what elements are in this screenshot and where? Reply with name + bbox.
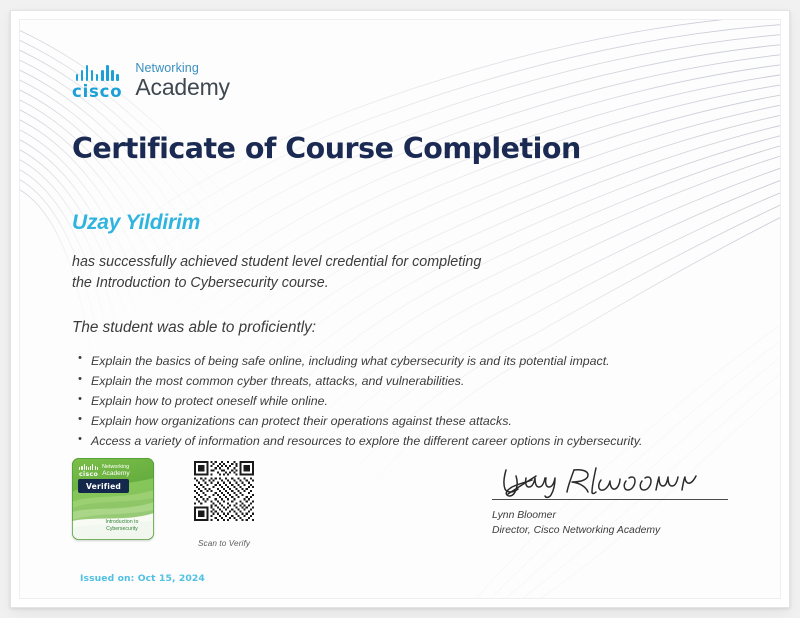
qr-code-icon[interactable] [194,461,254,521]
qr-caption: Scan to Verify [198,539,250,548]
signatory-name: Lynn Bloomer [492,508,728,523]
badge-logo: cisco Networking Academy [79,464,130,478]
objective-item: Access a variety of information and reso… [72,431,728,451]
achievement-line-2: the Introduction to Cybersecurity course… [72,273,632,293]
academy-line-academy: Academy [135,76,229,99]
objective-item: Explain the basics of being safe online,… [72,351,728,371]
objectives-list: Explain the basics of being safe online,… [72,351,728,451]
cisco-bridge-icon [76,64,119,81]
achievement-statement: has successfully achieved student level … [72,252,632,293]
badge-course-name: Introduction to Cybersecurity [96,519,148,533]
objective-item: Explain how to protect oneself while onl… [72,391,728,411]
academy-line-networking: Networking [135,62,229,75]
badge-cisco-wordmark: cisco [79,472,98,478]
badge-cisco-bridge-icon [79,464,98,470]
verified-badge: cisco Networking Academy Verified Introd… [72,458,154,540]
certificate-page: cisco Networking Academy Certificate of … [0,0,800,618]
badge-status-verified: Verified [78,479,129,493]
badge-academy-line-2: Academy [102,471,130,478]
cisco-logo-mark: cisco [72,64,122,101]
cisco-wordmark: cisco [72,84,122,101]
certificate-title: Certificate of Course Completion [72,133,728,164]
certificate-frame: cisco Networking Academy Certificate of … [10,10,790,608]
signature-block: Lynn Bloomer Director, Cisco Networking … [492,458,728,538]
badge-course-line-1: Introduction to [96,519,148,526]
certificate-content: cisco Networking Academy Certificate of … [20,20,780,598]
objective-item: Explain the most common cyber threats, a… [72,371,728,391]
recipient-name: Uzay Yildirim [72,211,728,235]
signatory-role: Director, Cisco Networking Academy [492,523,728,538]
verification-qr-block: Scan to Verify [176,458,272,548]
badge-academy-wordmark: Networking Academy [102,465,130,478]
handwritten-signature [492,464,728,500]
verified-badge-wrap: cisco Networking Academy Verified Introd… [72,458,164,540]
objective-item: Explain how organizations can protect th… [72,411,728,431]
badge-cisco-mark: cisco [79,464,98,478]
networking-academy-wordmark: Networking Academy [135,62,229,101]
proficiency-heading: The student was able to proficiently: [72,319,728,337]
certificate-footer: cisco Networking Academy Verified Introd… [72,458,728,548]
achievement-line-1: has successfully achieved student level … [72,254,481,270]
cisco-networking-academy-logo: cisco Networking Academy [72,54,728,100]
badge-course-line-2: Cybersecurity [96,526,148,533]
certificate-inner-border: cisco Networking Academy Certificate of … [19,19,781,599]
